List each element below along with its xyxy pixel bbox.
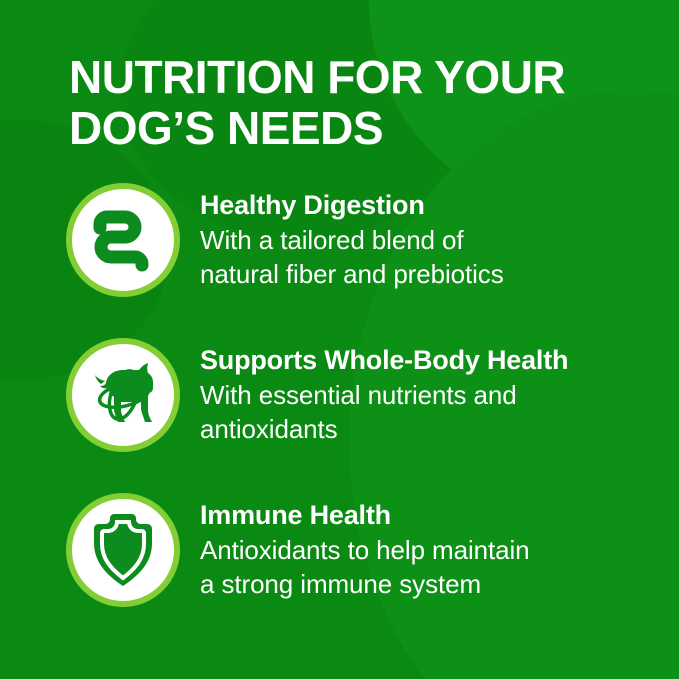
dog-atom-icon: [83, 359, 163, 431]
benefit-list: Healthy Digestion With a tailored blend …: [0, 183, 679, 648]
benefit-title: Supports Whole-Body Health: [200, 344, 670, 376]
benefit-icon-badge: [66, 493, 180, 607]
benefit-description-line-2: a strong immune system: [200, 567, 670, 601]
benefit-icon-badge: [66, 338, 180, 452]
benefit-copy: Immune Health Antioxidants to help maint…: [200, 499, 670, 601]
benefit-description-line-2: natural fiber and prebiotics: [200, 257, 670, 291]
benefit-copy: Supports Whole-Body Health With essentia…: [200, 344, 670, 446]
benefit-item-whole-body-health: Supports Whole-Body Health With essentia…: [0, 338, 679, 493]
benefit-description: Antioxidants to help maintain a strong i…: [200, 533, 670, 601]
benefit-item-healthy-digestion: Healthy Digestion With a tailored blend …: [0, 183, 679, 338]
benefit-description: With essential nutrients and antioxidant…: [200, 378, 670, 446]
benefit-description-line-1: With essential nutrients and: [200, 378, 670, 412]
headline-line-2: DOG’S NEEDS: [69, 103, 629, 154]
shield-icon: [88, 511, 158, 589]
benefit-title: Healthy Digestion: [200, 189, 670, 221]
benefit-title: Immune Health: [200, 499, 670, 531]
benefit-description-line-1: Antioxidants to help maintain: [200, 533, 670, 567]
nutrition-benefits-poster: NUTRITION FOR YOUR DOG’S NEEDS Healthy D…: [0, 0, 679, 679]
benefit-description-line-2: antioxidants: [200, 412, 670, 446]
page-title: NUTRITION FOR YOUR DOG’S NEEDS: [69, 52, 629, 154]
benefit-icon-badge: [66, 183, 180, 297]
intestine-icon: [89, 203, 157, 277]
benefit-description-line-1: With a tailored blend of: [200, 223, 670, 257]
benefit-copy: Healthy Digestion With a tailored blend …: [200, 189, 670, 291]
headline-line-1: NUTRITION FOR YOUR: [69, 52, 629, 103]
benefit-item-immune-health: Immune Health Antioxidants to help maint…: [0, 493, 679, 648]
benefit-description: With a tailored blend of natural fiber a…: [200, 223, 670, 291]
